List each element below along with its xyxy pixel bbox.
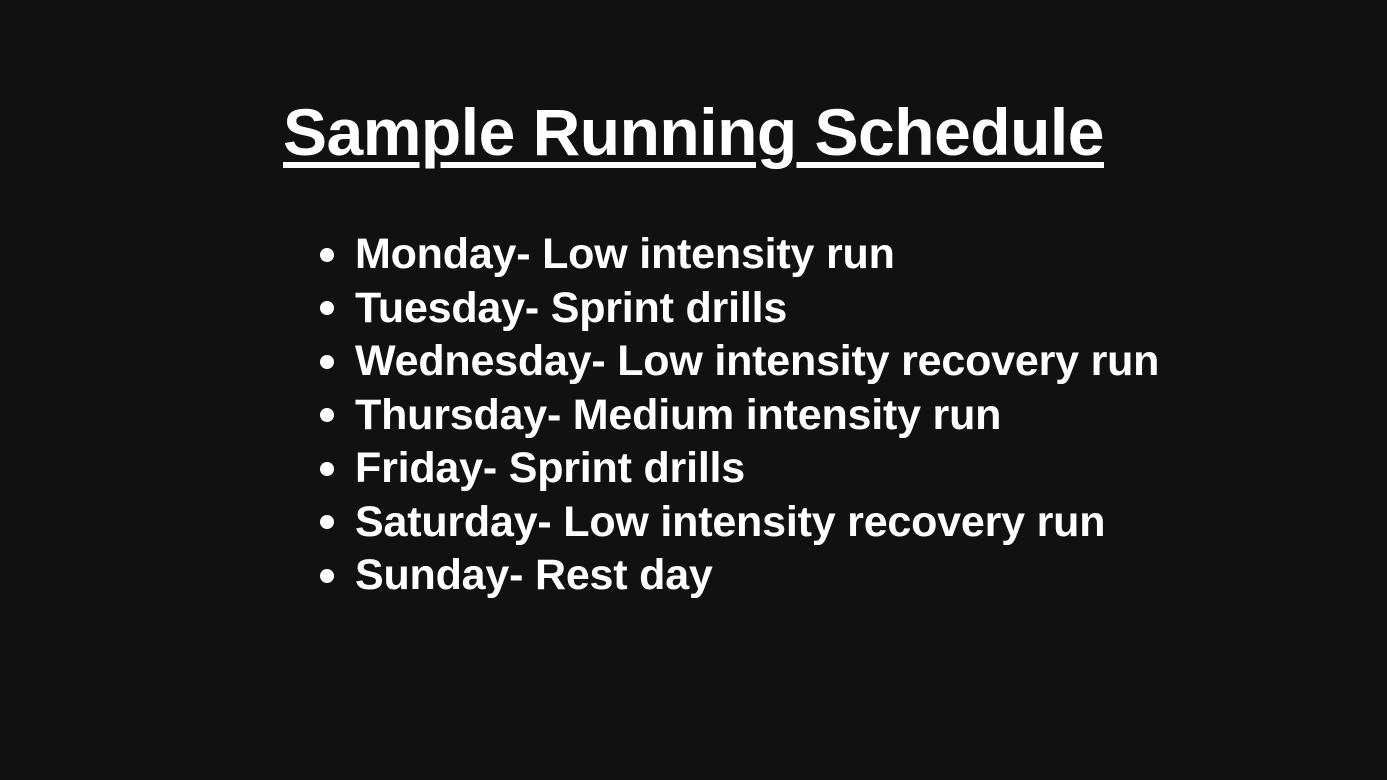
list-item: Sunday- Rest day <box>318 549 1358 603</box>
list-item: Friday- Sprint drills <box>318 442 1358 496</box>
schedule-list: Monday- Low intensity run Tuesday- Sprin… <box>318 228 1358 603</box>
title-container: Sample Running Schedule <box>0 48 1387 216</box>
page-title: Sample Running Schedule <box>283 92 1104 172</box>
list-item-label: Tuesday- Sprint drills <box>355 282 787 336</box>
list-item: Thursday- Medium intensity run <box>318 389 1358 443</box>
bullet-dot-icon <box>320 301 334 315</box>
list-item: Tuesday- Sprint drills <box>318 282 1358 336</box>
bullet-dot-icon <box>320 515 334 529</box>
list-item: Monday- Low intensity run <box>318 228 1358 282</box>
list-item-label: Saturday- Low intensity recovery run <box>355 496 1105 550</box>
bullet-dot-icon <box>320 569 334 583</box>
list-item-label: Wednesday- Low intensity recovery run <box>355 335 1159 389</box>
list-item-label: Monday- Low intensity run <box>355 228 895 282</box>
list-item-label: Friday- Sprint drills <box>355 442 745 496</box>
list-item: Wednesday- Low intensity recovery run <box>318 335 1358 389</box>
list-item-label: Sunday- Rest day <box>355 549 713 603</box>
bullet-dot-icon <box>320 355 334 369</box>
bullet-dot-icon <box>320 248 334 262</box>
bullet-dot-icon <box>320 408 334 422</box>
slide-canvas: Sample Running Schedule Monday- Low inte… <box>0 0 1387 780</box>
list-item: Saturday- Low intensity recovery run <box>318 496 1358 550</box>
list-item-label: Thursday- Medium intensity run <box>355 389 1001 443</box>
bullet-dot-icon <box>320 462 334 476</box>
